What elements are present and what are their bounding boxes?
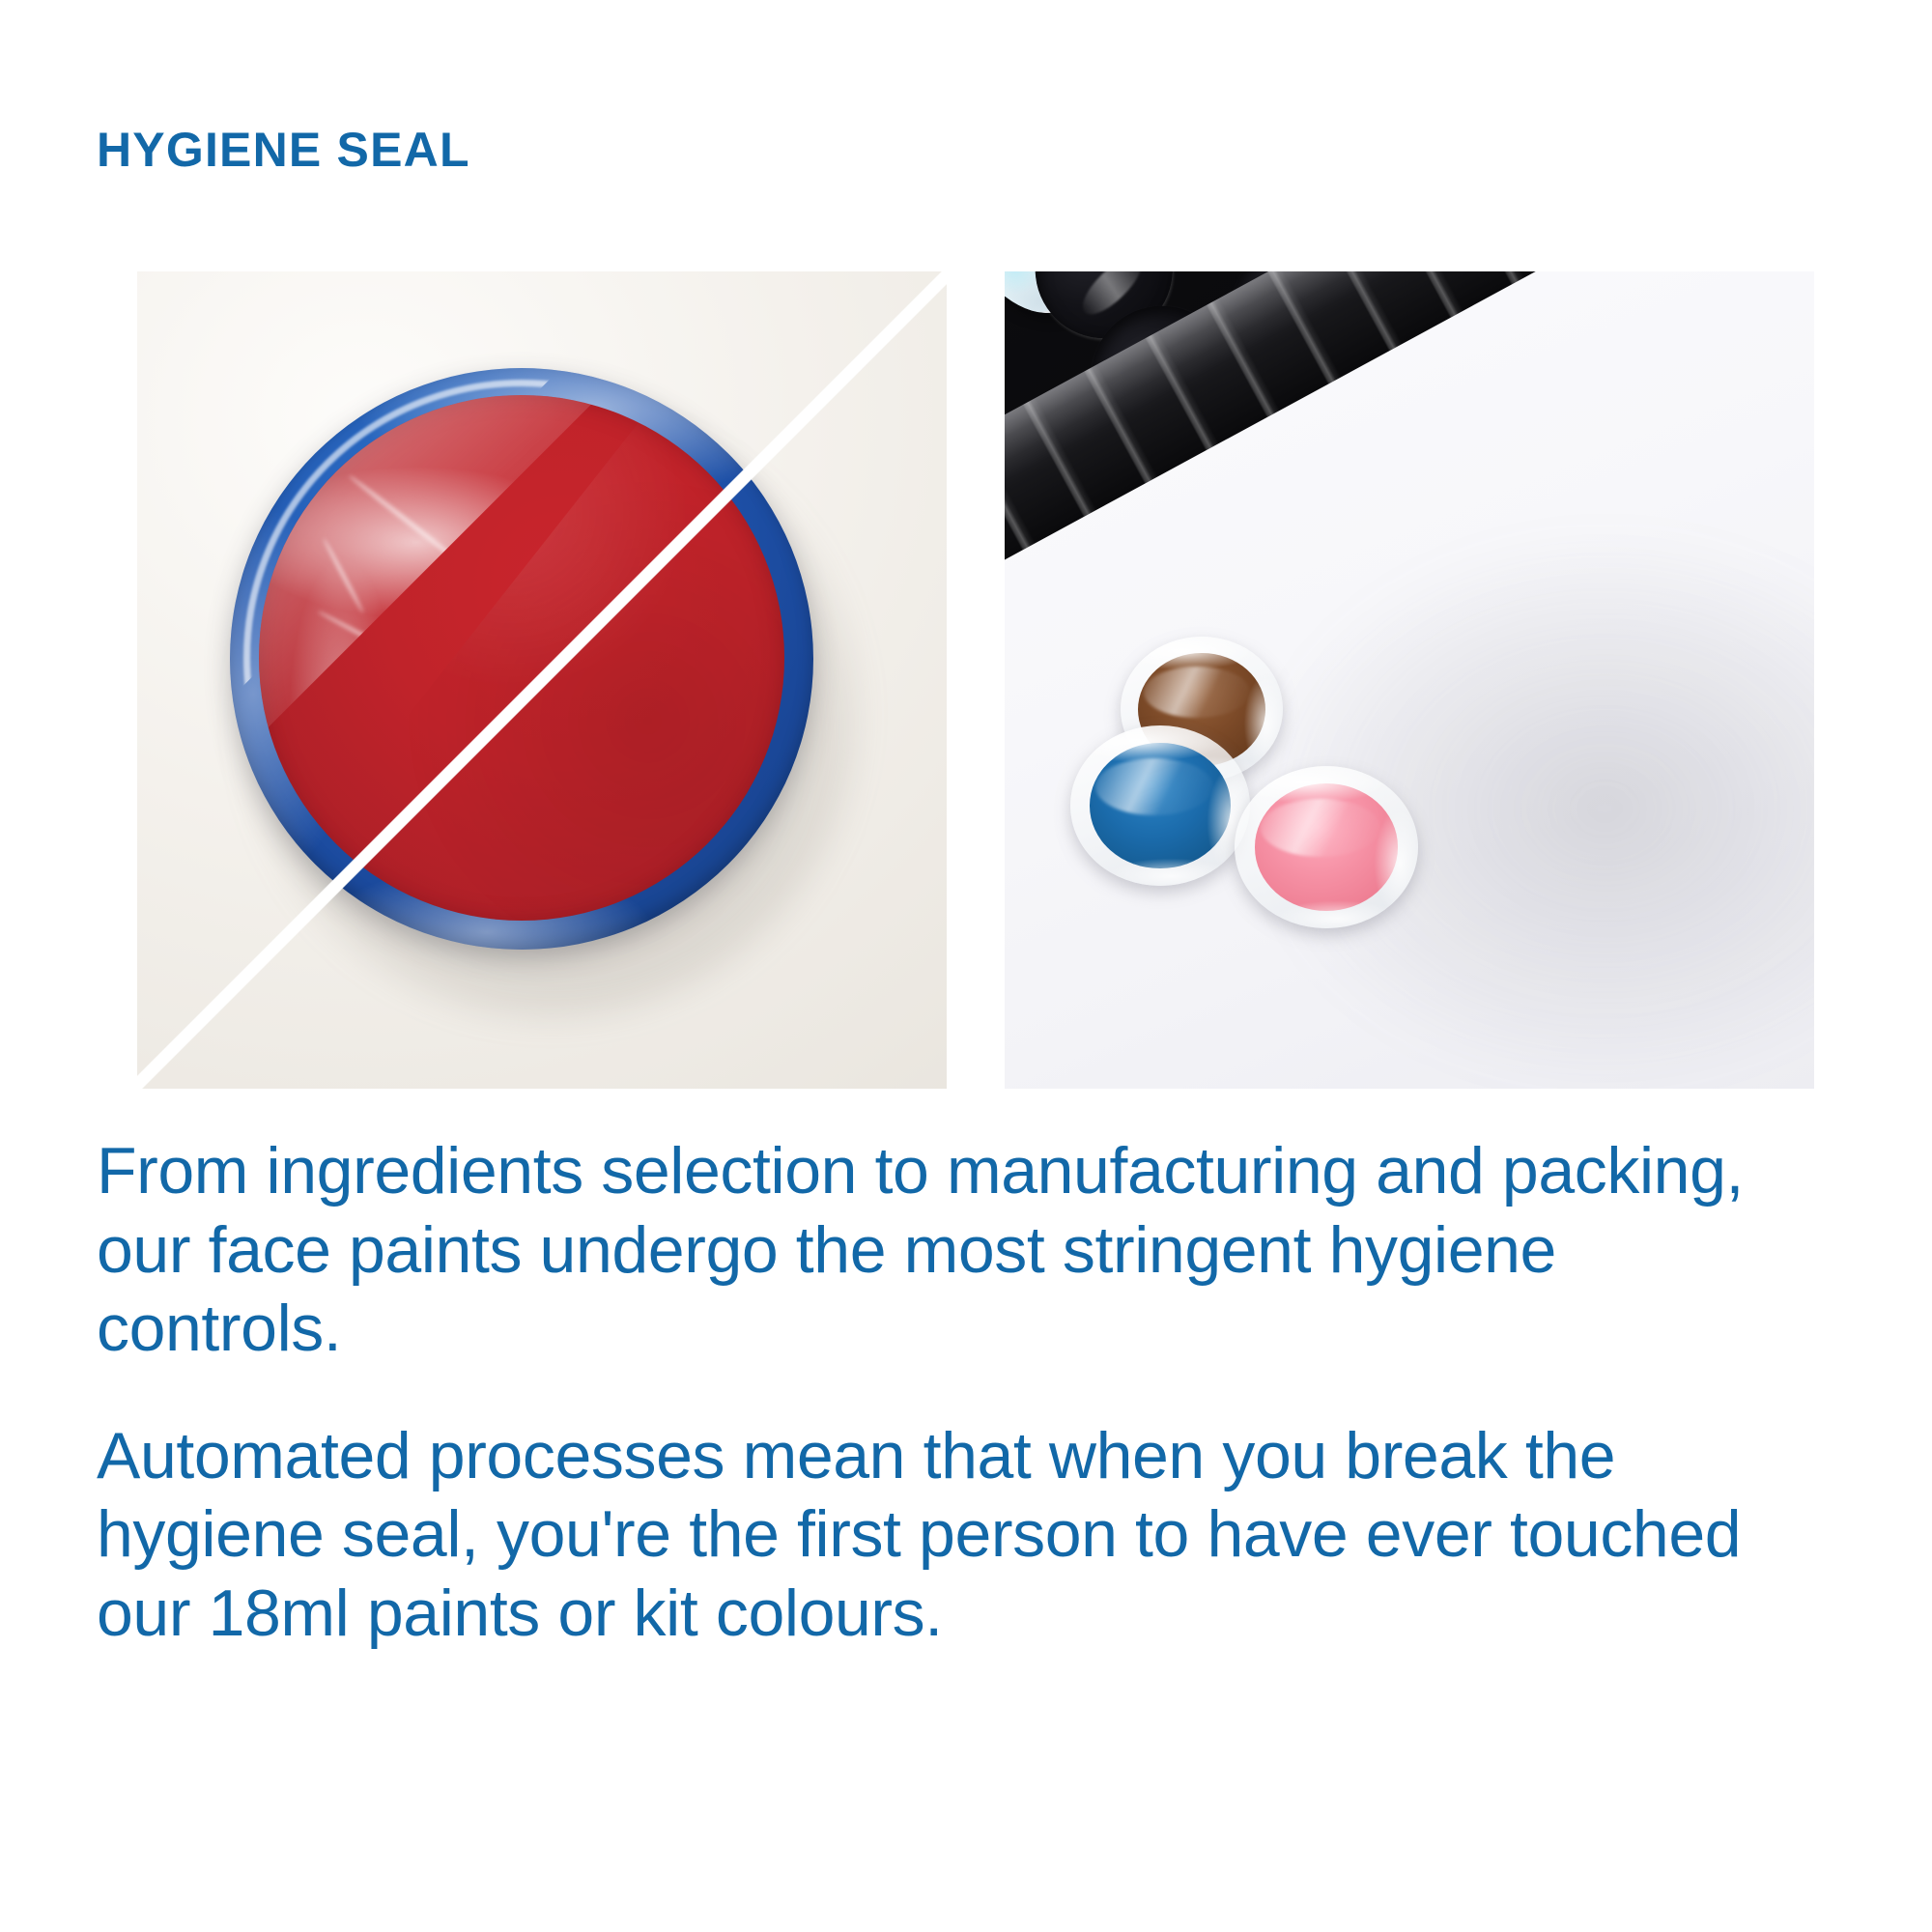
body-copy: From ingredients selection to manufactur… [97, 1132, 1777, 1654]
seal-film [1235, 766, 1418, 928]
sealed-disc-blue [1070, 725, 1250, 886]
body-paragraph-2: Automated processes mean that when you b… [97, 1417, 1758, 1654]
sealed-disc-pink [1235, 766, 1418, 928]
seal-comparison-photo [137, 271, 947, 1089]
palette-tray-photo [1005, 271, 1814, 1089]
page-title: HYGIENE SEAL [97, 126, 470, 174]
seal-film [1070, 725, 1250, 886]
sponge-large [1502, 271, 1662, 380]
body-paragraph-1: From ingredients selection to manufactur… [97, 1132, 1758, 1369]
figure-row [99, 256, 1776, 1073]
diagonal-split-line [137, 271, 947, 1089]
